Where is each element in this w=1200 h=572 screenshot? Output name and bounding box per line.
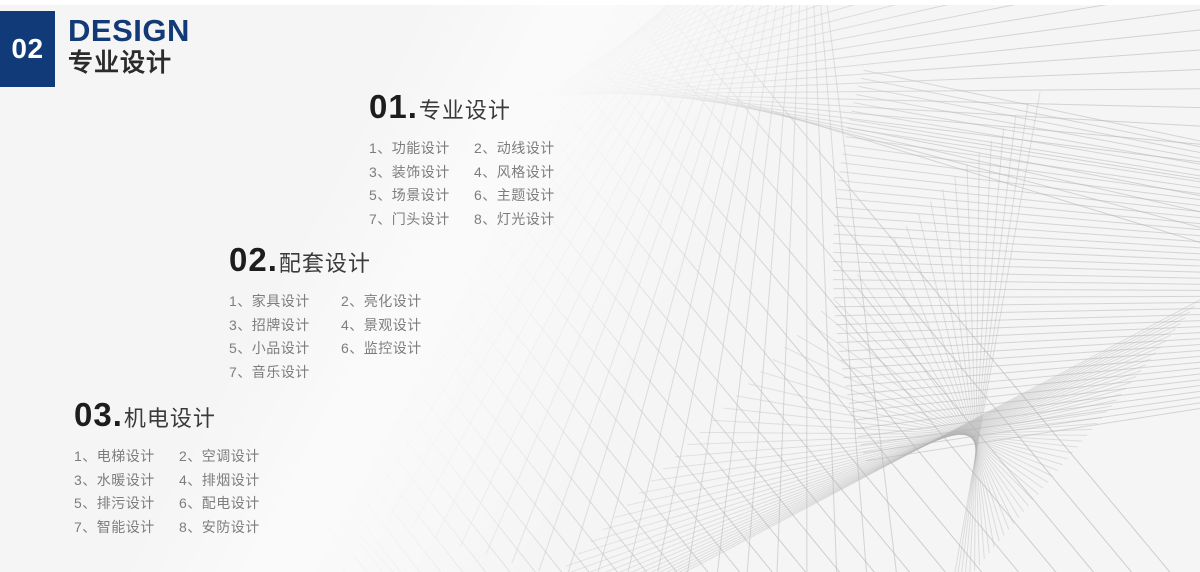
header-title-group: DESIGN 专业设计 bbox=[68, 11, 190, 77]
section-number-badge: 02 bbox=[0, 11, 55, 87]
top-white-strip bbox=[0, 0, 1200, 5]
section-01-title: 专业设计 bbox=[419, 100, 511, 122]
section-block-03: 03 . 机电设计 1、电梯设计 2、空调设计 3、水暖设计 4、排烟设计 5、… bbox=[74, 398, 260, 539]
section-block-02: 02 . 配套设计 1、家具设计 2、亮化设计 3、招牌设计 4、景观设计 5、… bbox=[229, 243, 422, 384]
list-item: 5、排污设计 6、配电设计 bbox=[74, 492, 260, 516]
list-item: 5、场景设计 6、主题设计 bbox=[369, 184, 555, 208]
list-item: 7、音乐设计 bbox=[229, 361, 422, 385]
list-cell: 5、排污设计 bbox=[74, 492, 179, 516]
section-01-heading: 01 . 专业设计 bbox=[369, 90, 555, 123]
list-item: 1、功能设计 2、动线设计 bbox=[369, 137, 555, 161]
section-01-number: 01 bbox=[369, 90, 408, 123]
section-02-title: 配套设计 bbox=[279, 253, 371, 275]
list-cell: 6、主题设计 bbox=[474, 184, 555, 208]
list-cell: 8、安防设计 bbox=[179, 516, 260, 540]
page-header: 02 DESIGN 专业设计 bbox=[0, 11, 190, 87]
section-02-number: 02 bbox=[229, 243, 268, 276]
list-cell: 2、亮化设计 bbox=[341, 290, 422, 314]
list-item: 1、电梯设计 2、空调设计 bbox=[74, 445, 260, 469]
list-cell: 7、音乐设计 bbox=[229, 361, 341, 385]
list-item: 3、装饰设计 4、风格设计 bbox=[369, 161, 555, 185]
list-cell: 3、招牌设计 bbox=[229, 314, 341, 338]
section-03-dot: . bbox=[113, 398, 122, 431]
section-02-dot: . bbox=[268, 243, 277, 276]
list-cell: 4、排烟设计 bbox=[179, 469, 260, 493]
list-item: 7、智能设计 8、安防设计 bbox=[74, 516, 260, 540]
list-cell: 4、景观设计 bbox=[341, 314, 422, 338]
list-cell: 8、灯光设计 bbox=[474, 208, 555, 232]
list-cell: 1、电梯设计 bbox=[74, 445, 179, 469]
list-cell: 5、小品设计 bbox=[229, 337, 341, 361]
list-cell: 6、配电设计 bbox=[179, 492, 260, 516]
list-cell: 3、装饰设计 bbox=[369, 161, 474, 185]
section-03-title: 机电设计 bbox=[124, 408, 216, 430]
page-title-cn: 专业设计 bbox=[68, 49, 190, 78]
list-cell: 7、智能设计 bbox=[74, 516, 179, 540]
list-cell: 1、家具设计 bbox=[229, 290, 341, 314]
list-cell: 3、水暖设计 bbox=[74, 469, 179, 493]
page-title-en: DESIGN bbox=[68, 15, 190, 48]
list-item: 3、水暖设计 4、排烟设计 bbox=[74, 469, 260, 493]
section-01-list: 1、功能设计 2、动线设计 3、装饰设计 4、风格设计 5、场景设计 6、主题设… bbox=[369, 137, 555, 231]
section-03-list: 1、电梯设计 2、空调设计 3、水暖设计 4、排烟设计 5、排污设计 6、配电设… bbox=[74, 445, 260, 539]
list-cell: 2、空调设计 bbox=[179, 445, 260, 469]
list-cell: 7、门头设计 bbox=[369, 208, 474, 232]
badge-number-label: 02 bbox=[11, 35, 43, 63]
list-cell: 2、动线设计 bbox=[474, 137, 555, 161]
section-03-number: 03 bbox=[74, 398, 113, 431]
list-item: 1、家具设计 2、亮化设计 bbox=[229, 290, 422, 314]
section-02-list: 1、家具设计 2、亮化设计 3、招牌设计 4、景观设计 5、小品设计 6、监控设… bbox=[229, 290, 422, 384]
section-02-heading: 02 . 配套设计 bbox=[229, 243, 422, 276]
section-03-heading: 03 . 机电设计 bbox=[74, 398, 260, 431]
slide-canvas: 02 DESIGN 专业设计 01 . 专业设计 1、功能设计 2、动线设计 3… bbox=[0, 0, 1200, 572]
list-cell: 1、功能设计 bbox=[369, 137, 474, 161]
section-01-dot: . bbox=[408, 90, 417, 123]
list-item: 7、门头设计 8、灯光设计 bbox=[369, 208, 555, 232]
section-block-01: 01 . 专业设计 1、功能设计 2、动线设计 3、装饰设计 4、风格设计 5、… bbox=[369, 90, 555, 231]
list-cell: 5、场景设计 bbox=[369, 184, 474, 208]
list-item: 5、小品设计 6、监控设计 bbox=[229, 337, 422, 361]
list-cell: 6、监控设计 bbox=[341, 337, 422, 361]
list-cell: 4、风格设计 bbox=[474, 161, 555, 185]
list-item: 3、招牌设计 4、景观设计 bbox=[229, 314, 422, 338]
